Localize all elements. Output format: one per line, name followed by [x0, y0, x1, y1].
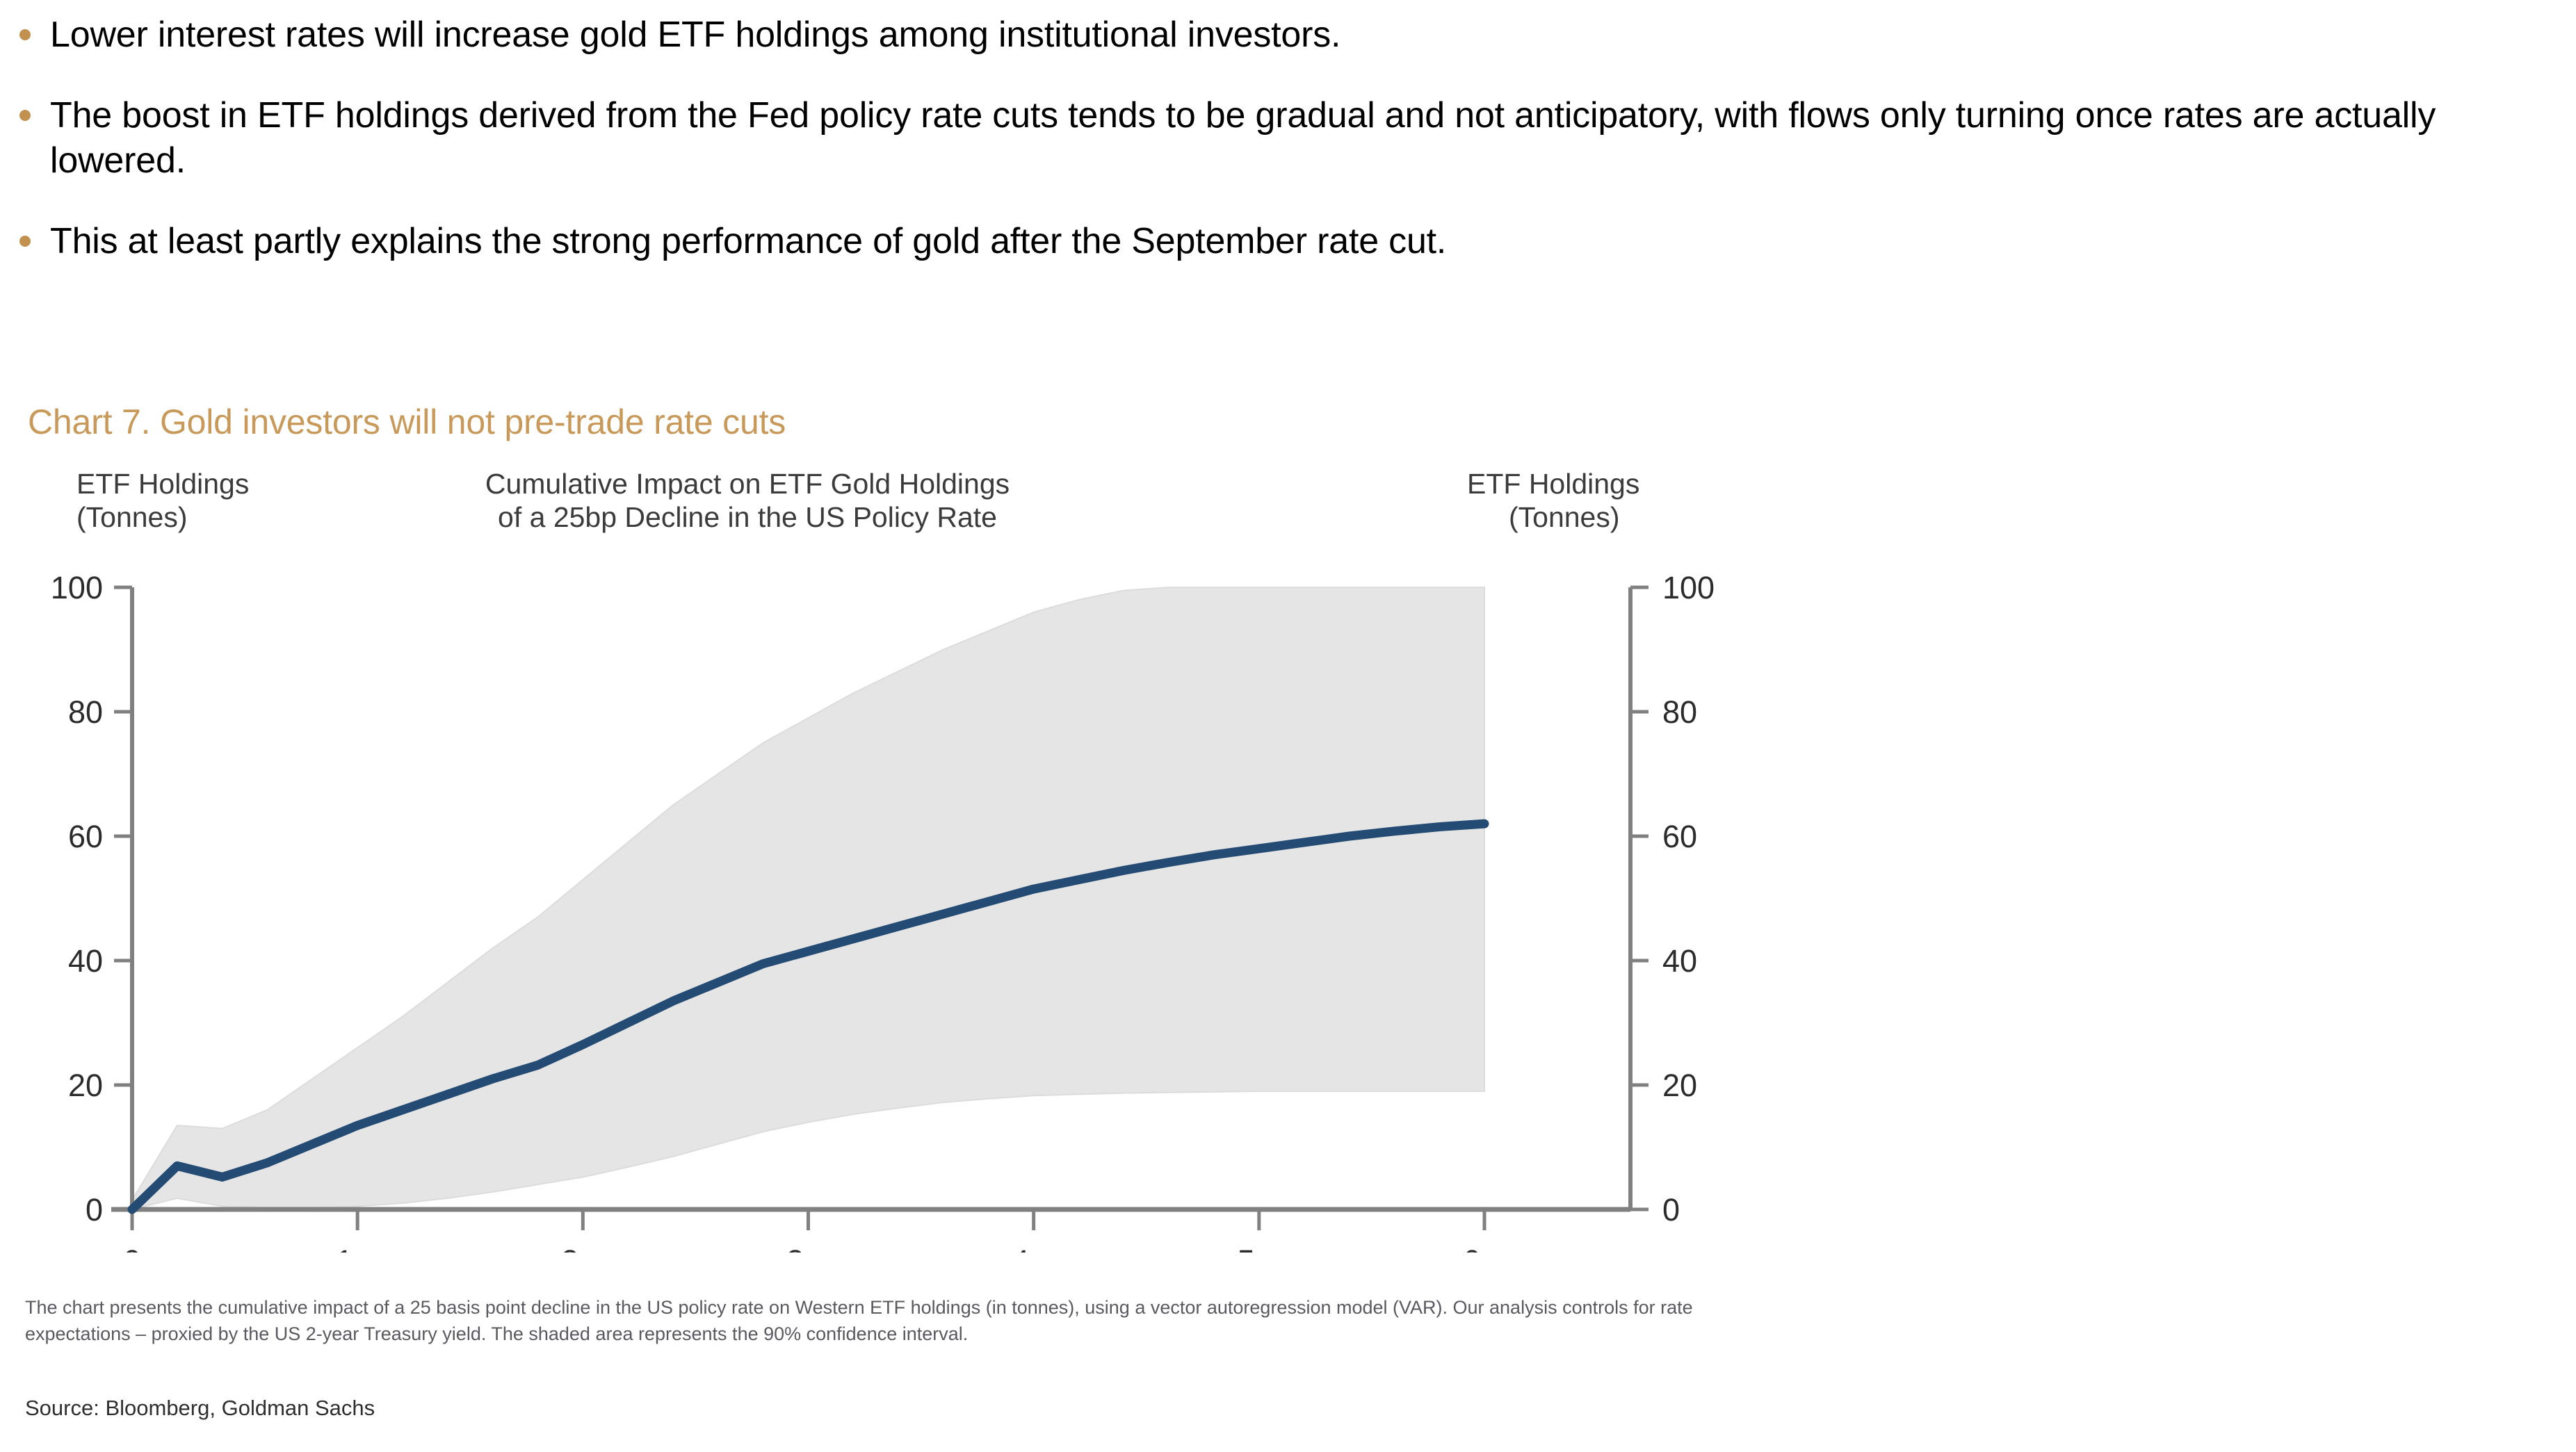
bullet-dot-icon [19, 29, 31, 40]
chart-title-line1: Cumulative Impact on ETF Gold Holdings [485, 468, 1010, 500]
y-tick-label-left: 40 [68, 943, 103, 979]
right-axis-header-line1: ETF Holdings [1467, 468, 1639, 500]
x-tick-label: 6m [1463, 1243, 1507, 1253]
y-tick-label-right: 20 [1662, 1068, 1697, 1103]
bullet-text: The boost in ETF holdings derived from t… [50, 93, 2545, 184]
y-tick-label-left: 100 [51, 570, 103, 605]
y-tick-label-right: 0 [1662, 1192, 1680, 1227]
list-item: The boost in ETF holdings derived from t… [0, 93, 2545, 184]
y-tick-label-right: 40 [1662, 943, 1697, 979]
x-tick-label: 2m [561, 1243, 605, 1253]
y-tick-label-right: 80 [1662, 694, 1697, 730]
list-item: Lower interest rates will increase gold … [0, 13, 2545, 58]
x-tick-label: 5m [1238, 1243, 1281, 1253]
bullet-text: This at least partly explains the strong… [50, 219, 2545, 265]
y-tick-label-left: 20 [68, 1068, 103, 1103]
line-chart: ETF Holdings (Tonnes) Cumulative Impact … [0, 467, 1808, 1253]
left-axis-header-line2: (Tonnes) [76, 501, 188, 533]
bullet-list: Lower interest rates will increase gold … [0, 0, 2545, 299]
y-tick-label-left: 80 [68, 694, 103, 730]
chart-footnote: The chart presents the cumulative impact… [25, 1294, 1728, 1348]
x-tick-label: 1m [336, 1243, 380, 1253]
y-tick-label-left: 60 [68, 819, 103, 854]
right-axis-header-line2: (Tonnes) [1509, 501, 1620, 533]
chart-title-line2: of a 25bp Decline in the US Policy Rate [498, 501, 997, 533]
x-tick-label: 0 [123, 1243, 140, 1253]
chart-container: ETF Holdings (Tonnes) Cumulative Impact … [0, 467, 1808, 1253]
bullet-dot-icon [19, 110, 31, 121]
y-tick-label-left: 0 [86, 1192, 103, 1227]
left-axis-header-line1: ETF Holdings [76, 468, 249, 500]
source-line: Source: Bloomberg, Goldman Sachs [25, 1396, 375, 1421]
x-tick-label: 4m [1012, 1243, 1055, 1253]
bullet-text: Lower interest rates will increase gold … [50, 13, 2545, 58]
y-tick-label-right: 100 [1662, 570, 1715, 605]
chart-caption: Chart 7. Gold investors will not pre-tra… [28, 402, 786, 442]
bullet-dot-icon [19, 236, 31, 247]
plot-region: 00202040406060808010010001m2m3m4m5m6m [51, 570, 1715, 1253]
x-tick-label: 3m [786, 1243, 830, 1253]
confidence-band [132, 587, 1484, 1209]
list-item: This at least partly explains the strong… [0, 219, 2545, 265]
y-tick-label-right: 60 [1662, 819, 1697, 854]
